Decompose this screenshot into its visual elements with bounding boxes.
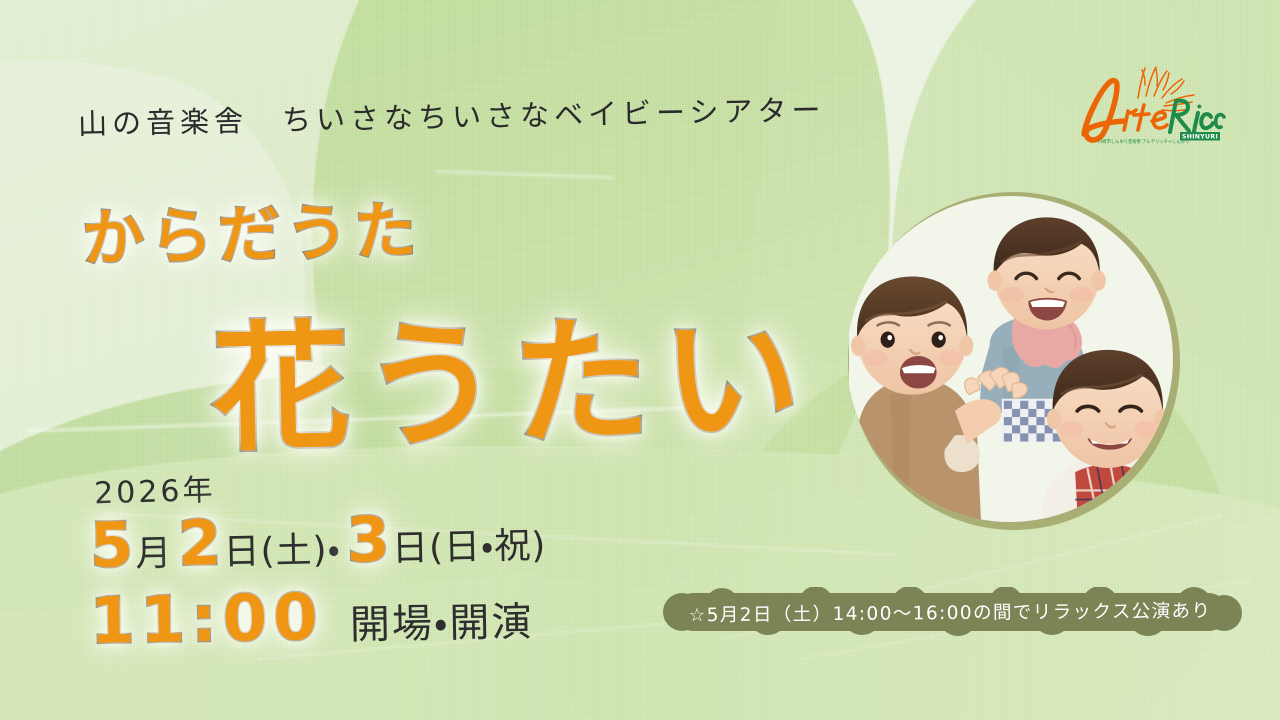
schedule-block: 2026年 5 月 2 日(土)・ 3 日(日・祝) 11:00 開場・開演 <box>90 462 552 650</box>
poster-canvas: SHINYURI 川崎市しんゆり芸術祭 アルテリッチャしんゆり 山の音楽舎 ちい… <box>0 0 1280 720</box>
schedule-year: 2026年 <box>93 456 552 513</box>
schedule-date-row: 5 月 2 日(土)・ 3 日(日・祝) <box>89 505 552 577</box>
schedule-day2-label: 日(日・祝) <box>392 528 547 567</box>
schedule-day1-label: 日(土)・ <box>223 533 341 571</box>
title-hanautai: 花うたい <box>210 266 814 477</box>
schedule-month-number: 5 <box>89 514 133 577</box>
schedule-time-label: 開場・開演 <box>350 602 534 645</box>
schedule-time: 11:00 <box>89 586 324 654</box>
schedule-month-kanji: 月 <box>135 536 173 573</box>
babies-photo-circle <box>848 192 1180 530</box>
schedule-day1-number: 2 <box>178 512 222 575</box>
title-karadauta: からだうた <box>81 180 423 278</box>
logo-caption: 川崎市しんゆり芸術祭 アルテリッチャしんゆり <box>1098 139 1189 146</box>
schedule-day2-number: 3 <box>346 509 390 572</box>
relax-performance-text: ☆5月2日（土）14:00〜16:00の間でリラックス公演あり <box>648 584 1252 639</box>
arte-ricca-logo[interactable]: SHINYURI 川崎市しんゆり芸術祭 アルテリッチャしんゆり <box>1076 60 1226 146</box>
relax-performance-banner: ☆5月2日（土）14:00〜16:00の間でリラックス公演あり <box>648 587 1252 637</box>
photo-inner-area <box>857 201 1171 521</box>
schedule-time-row: 11:00 開場・開演 <box>89 582 552 654</box>
